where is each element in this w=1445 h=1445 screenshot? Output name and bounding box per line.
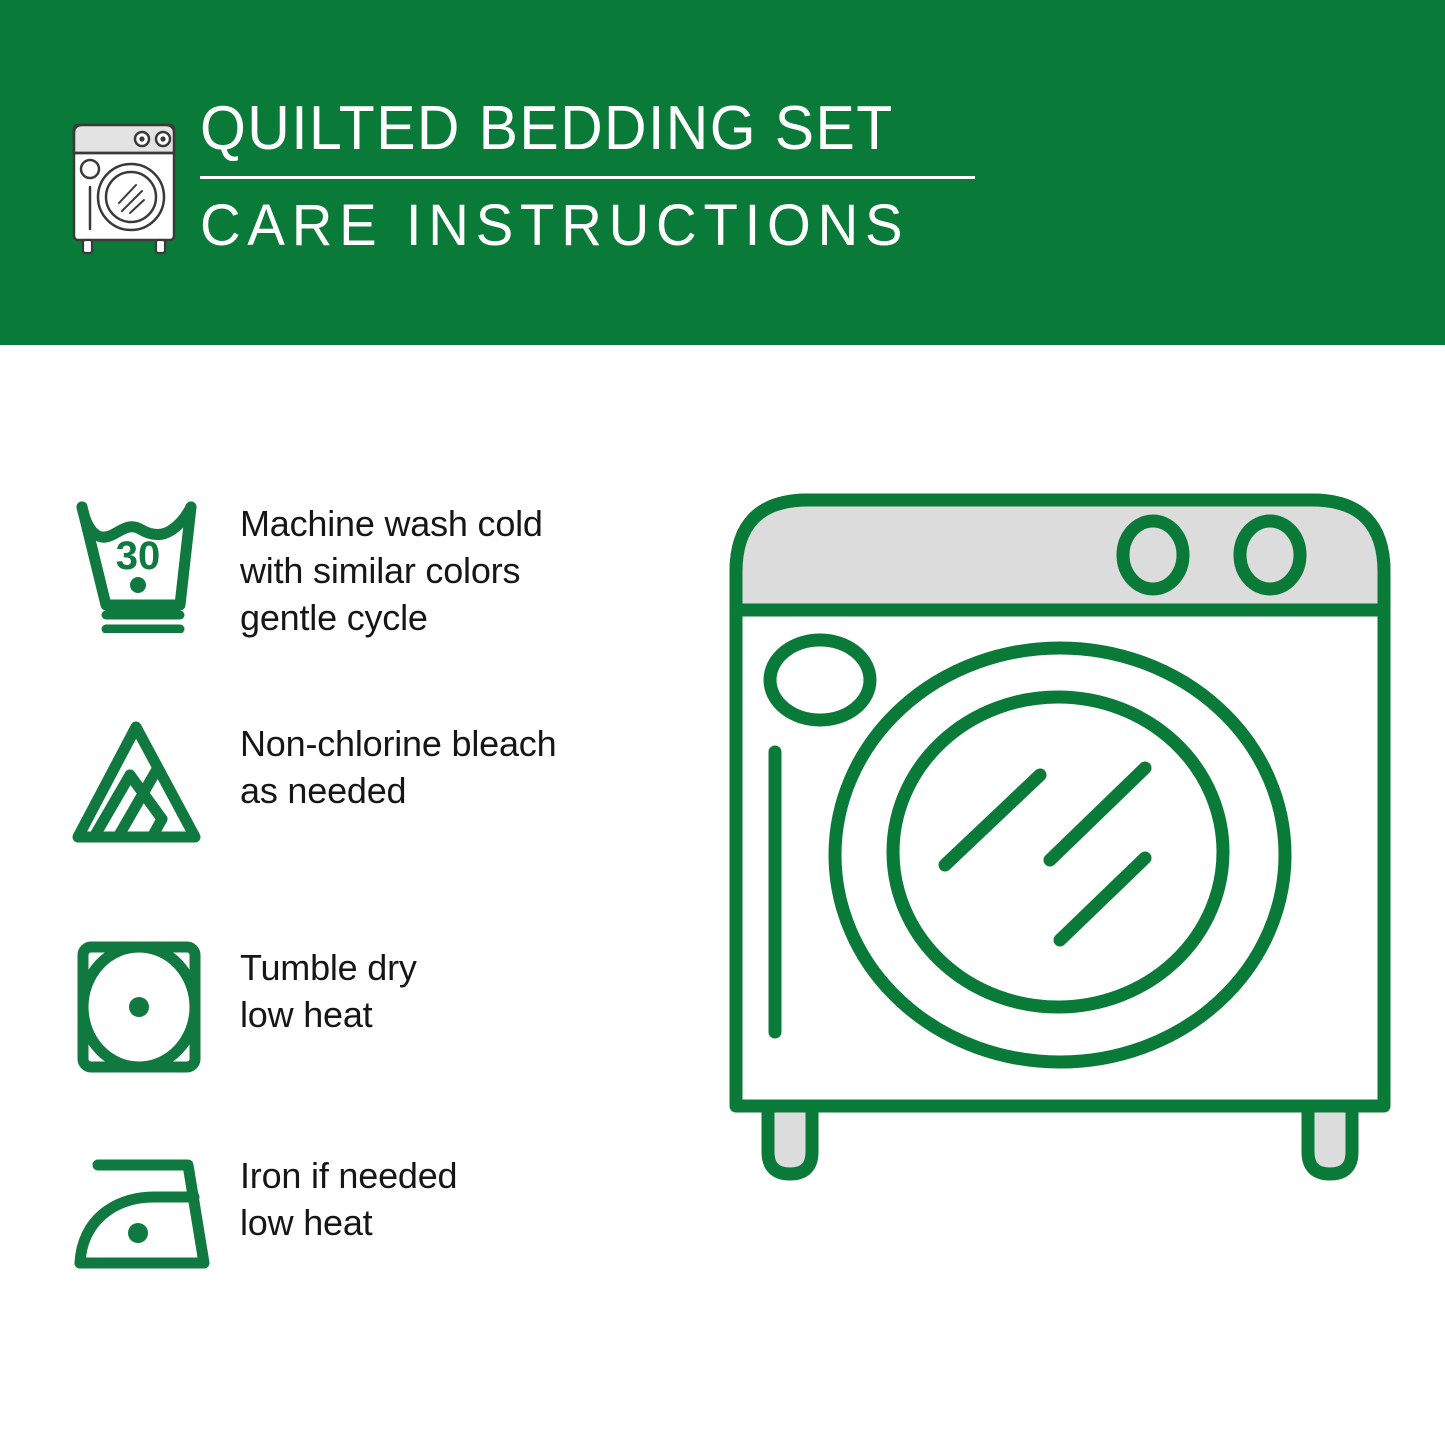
washer-knob	[1123, 521, 1183, 589]
care-line: Machine wash cold	[240, 501, 543, 548]
care-row-iron: Iron if needed low heat	[70, 1145, 690, 1285]
care-line: Non-chlorine bleach	[240, 721, 556, 768]
title-divider	[200, 176, 975, 179]
care-line: Tumble dry	[240, 945, 417, 992]
tumble-dry-low-icon	[70, 937, 240, 1077]
wash-temperature-label: 30	[116, 534, 161, 578]
page-subtitle: CARE INSTRUCTIONS	[200, 197, 976, 255]
care-row-machine-wash: 30 Machine wash cold with similar colors…	[70, 493, 690, 641]
care-line: gentle cycle	[240, 595, 543, 642]
care-instructions-infographic: QUILTED BEDDING SET CARE INSTRUCTIONS	[0, 0, 1445, 1445]
care-instruction-list: 30 Machine wash cold with similar colors…	[0, 345, 700, 1445]
wash-tub-30-icon: 30	[70, 493, 240, 633]
care-line: as needed	[240, 768, 556, 815]
care-line: low heat	[240, 992, 417, 1039]
washer-knob	[1240, 521, 1300, 589]
washing-machine-icon	[64, 105, 184, 255]
washer-indicator-circle	[770, 640, 870, 720]
care-line: Iron if needed	[240, 1153, 457, 1200]
care-text-tumble-dry: Tumble dry low heat	[240, 937, 417, 1039]
care-text-machine-wash: Machine wash cold with similar colors ge…	[240, 493, 543, 641]
header-banner: QUILTED BEDDING SET CARE INSTRUCTIONS	[0, 0, 1445, 345]
non-chlorine-bleach-triangle-icon	[70, 713, 240, 853]
care-row-bleach: Non-chlorine bleach as needed	[70, 713, 690, 853]
care-line: low heat	[240, 1200, 457, 1247]
header-text-block: QUILTED BEDDING SET CARE INSTRUCTIONS	[200, 98, 1000, 255]
care-row-tumble-dry: Tumble dry low heat	[70, 937, 690, 1077]
page-title: QUILTED BEDDING SET	[200, 98, 960, 160]
iron-low-heat-icon	[70, 1145, 240, 1285]
care-text-iron: Iron if needed low heat	[240, 1145, 457, 1247]
washing-machine-illustration	[720, 480, 1400, 1360]
care-text-bleach: Non-chlorine bleach as needed	[240, 713, 556, 815]
care-line: with similar colors	[240, 548, 543, 595]
